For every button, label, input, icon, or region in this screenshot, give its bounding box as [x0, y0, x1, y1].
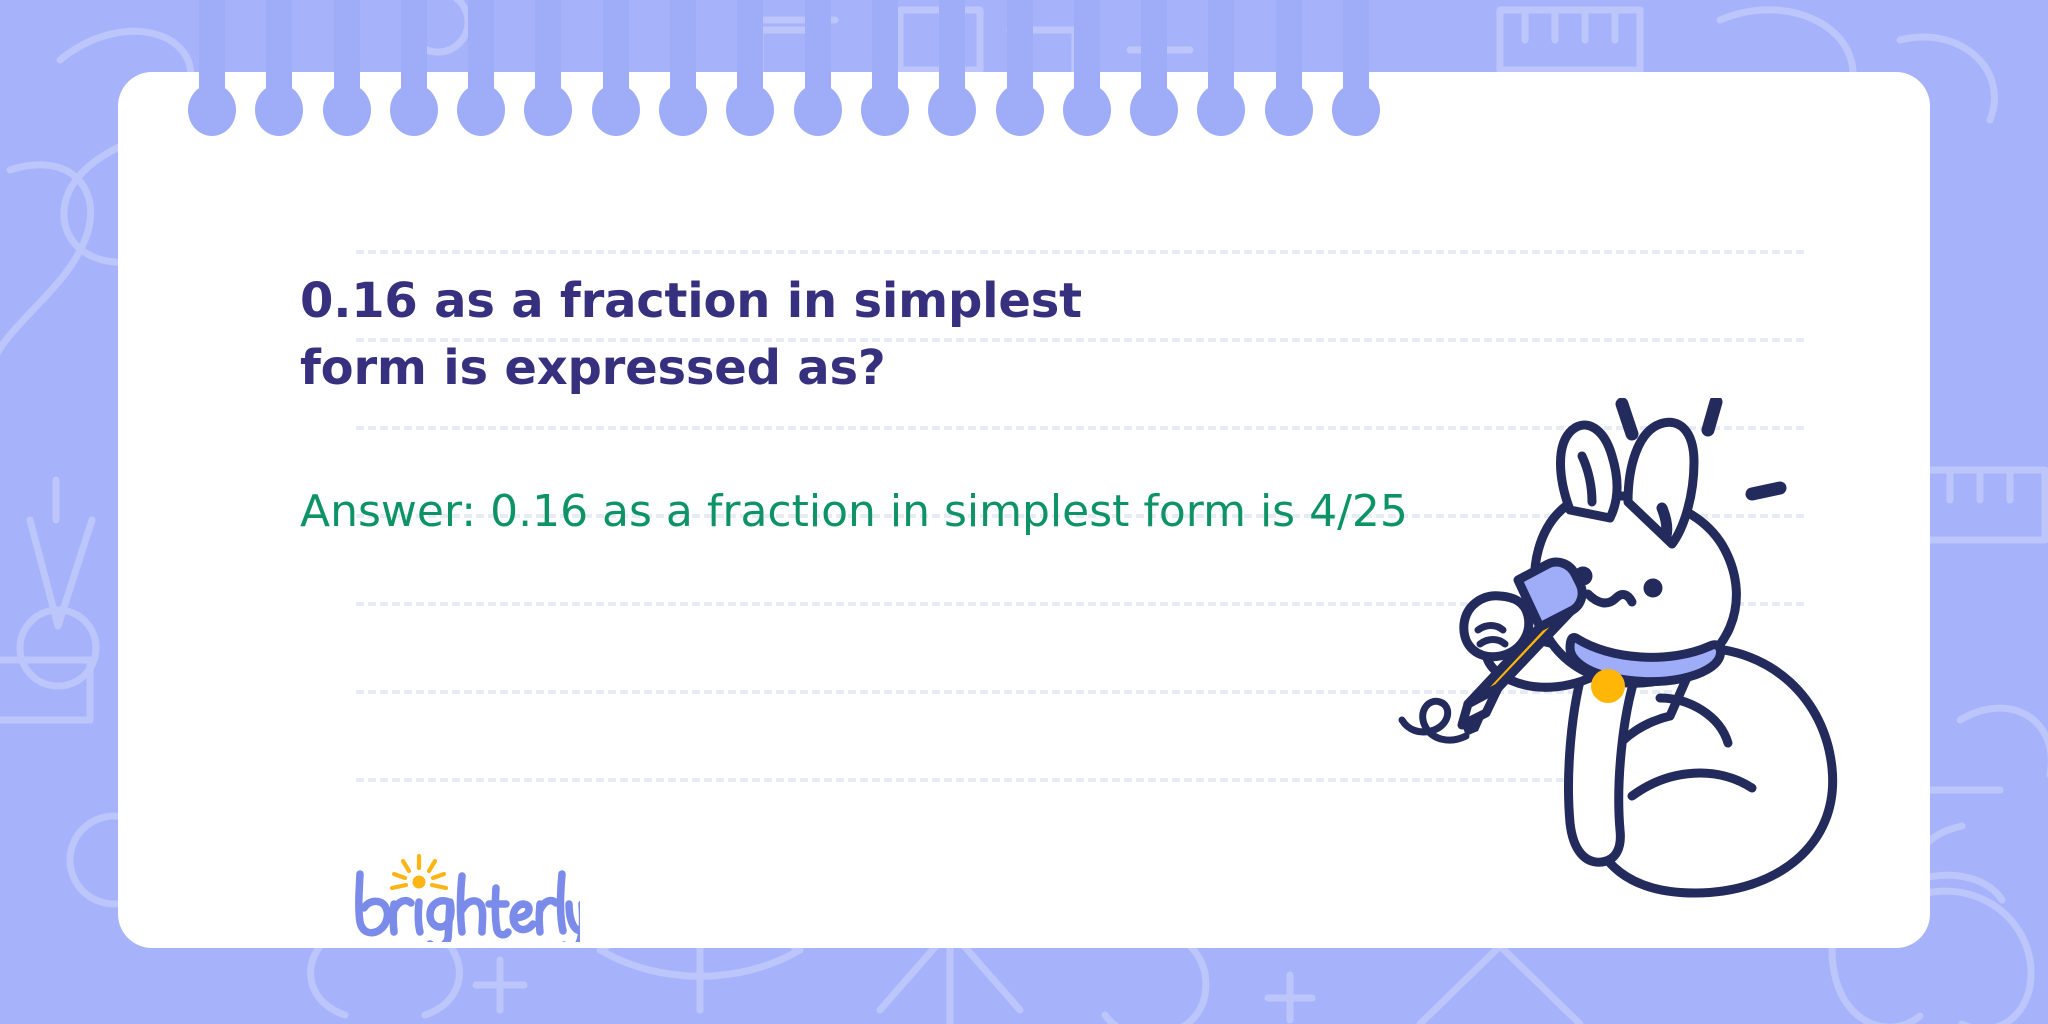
bunny-right-eye [1644, 579, 1663, 598]
brighterly-logo-svg [350, 852, 580, 942]
bunny-mascot [1370, 398, 1870, 898]
sunburst-core-icon [413, 876, 426, 889]
notebook-rule-line [356, 250, 1804, 254]
page-canvas: 0.16 as a fraction in simplest form is e… [0, 0, 2048, 1024]
bunny-collar-tag [1591, 669, 1625, 703]
question-heading: 0.16 as a fraction in simplest form is e… [300, 268, 1300, 402]
question-line-1: 0.16 as a fraction in simplest [300, 268, 1300, 335]
answer-text: Answer: 0.16 as a fraction in simplest f… [300, 484, 1408, 540]
question-line-2: form is expressed as? [300, 335, 1300, 402]
brighterly-logo[interactable] [350, 852, 580, 942]
bunny-mascot-svg [1370, 398, 1870, 898]
spark-left [1622, 404, 1632, 434]
spark-side [1752, 488, 1780, 494]
spark-right [1708, 402, 1716, 430]
